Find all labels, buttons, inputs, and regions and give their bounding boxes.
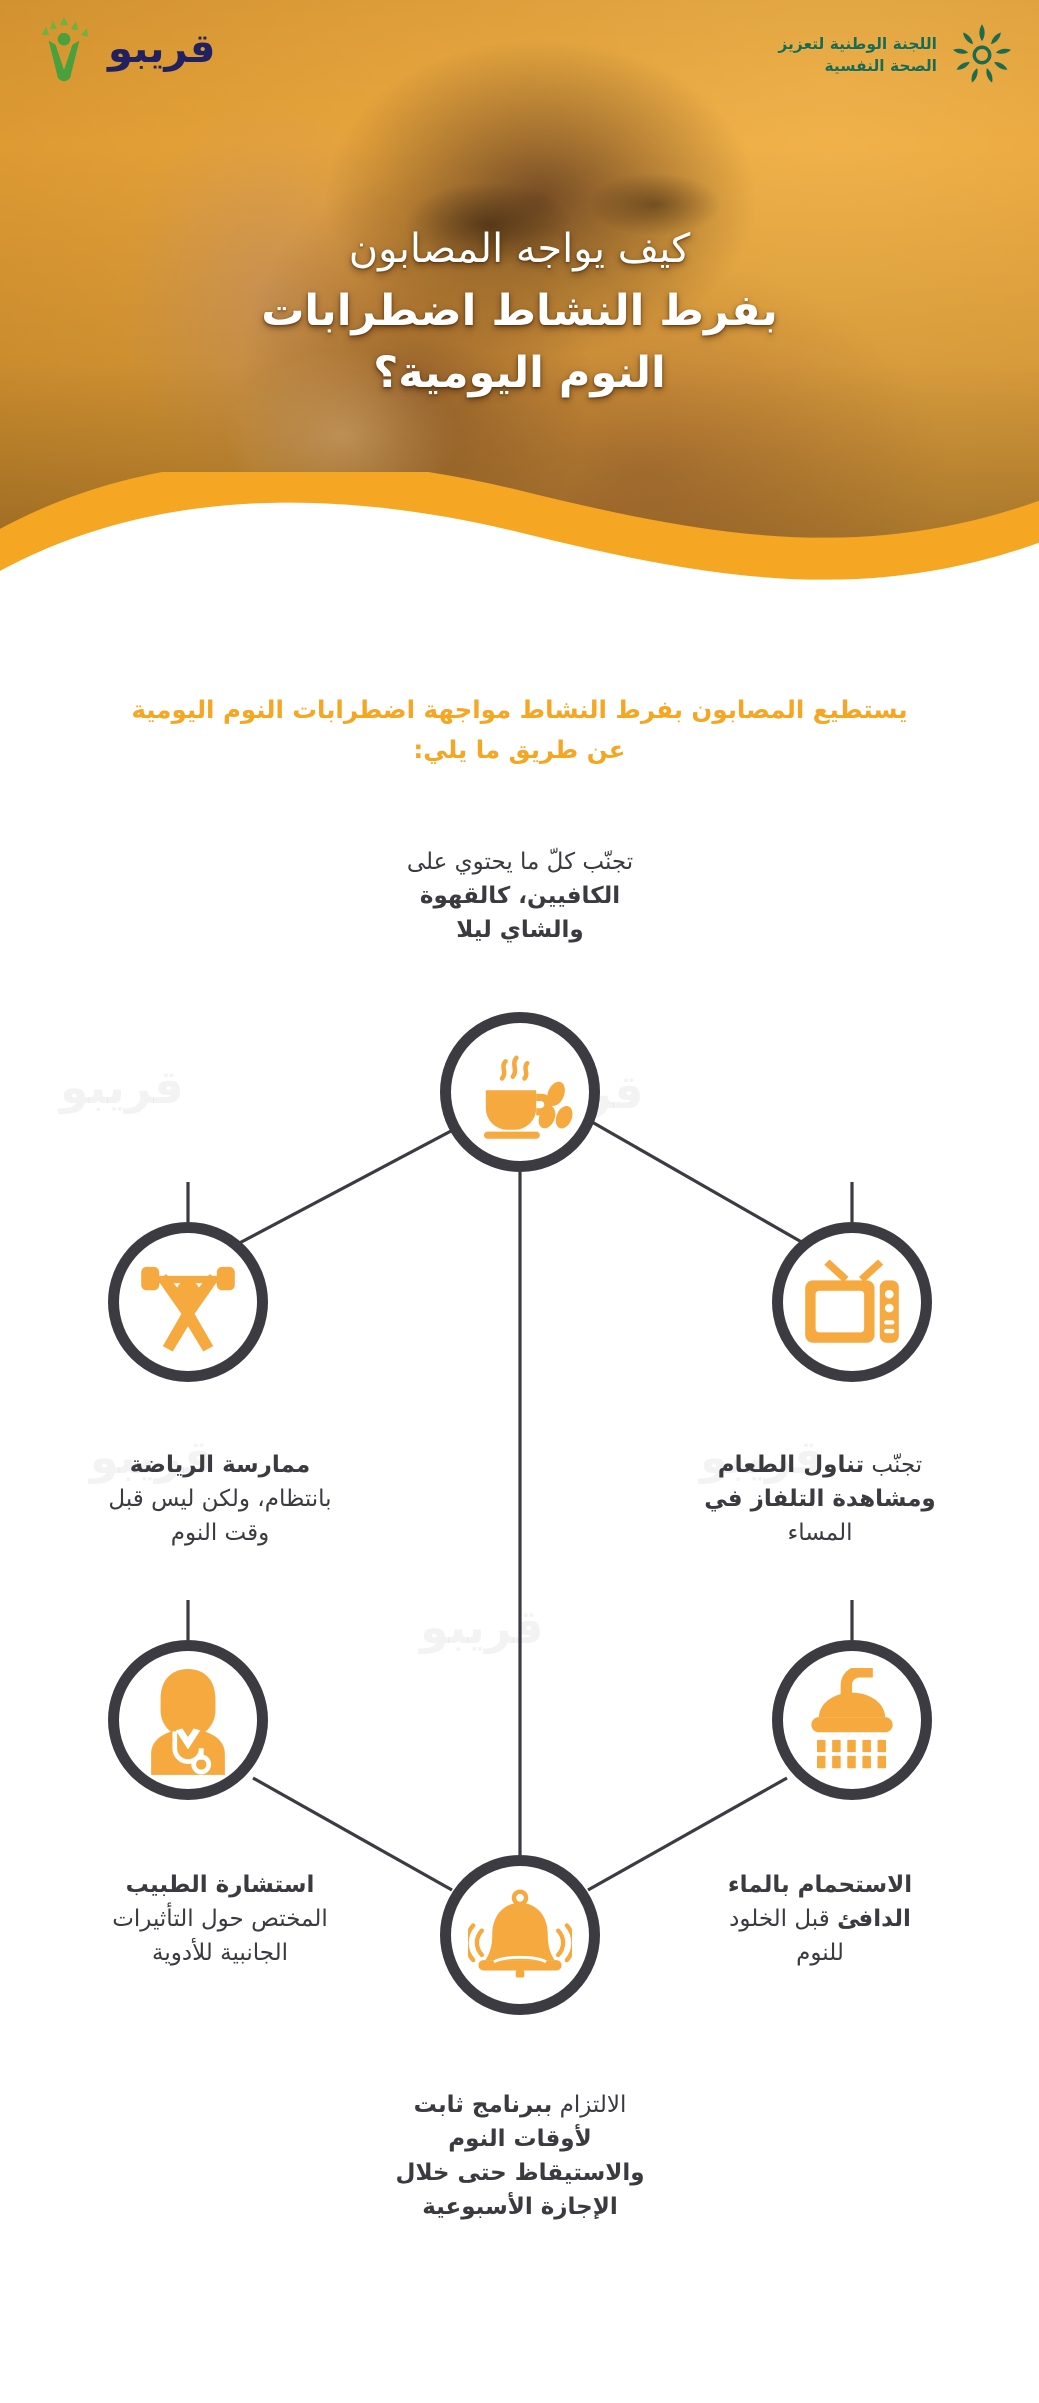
tip-bell-bold-1: ببرنامج ثابت <box>414 2092 553 2118</box>
tip-shower-bold-2: الدافئ <box>837 1906 911 1932</box>
coffee-cup-icon <box>466 1038 574 1146</box>
ringing-bell-icon <box>468 1885 572 1985</box>
doctor-stethoscope-icon <box>136 1665 240 1775</box>
tip-text-doctor: استشارة الطبيب المختص حول التأثيرات الجا… <box>20 1868 420 1970</box>
tip-tv-lead: تجنّب <box>871 1452 922 1478</box>
tip-coffee-lead: تجنّب كلّ ما يحتوي على <box>407 849 633 875</box>
tip-tv-tail: المساء <box>787 1520 852 1546</box>
hero-section: اللجنة الوطنية لتعزيز الصحة النفسية قريب… <box>0 0 1039 660</box>
committee-logo-text: اللجنة الوطنية لتعزيز الصحة النفسية <box>778 33 937 78</box>
tip-coffee-bold-2: والشاي ليلا <box>456 917 583 943</box>
tip-text-television: تجنّب تناول الطعام ومشاهدة التلفاز في ال… <box>620 1448 1020 1550</box>
tip-shower-bold-1: الاستحمام بالماء <box>728 1872 912 1898</box>
tip-sport-tail: وقت النوم <box>171 1520 269 1546</box>
watermark: قريبو <box>420 1600 544 1654</box>
hero-title-line-1: كيف يواجه المصابون <box>0 218 1039 280</box>
television-icon <box>800 1254 904 1350</box>
hero-title-line-2: بفرط النشاط اضطرابات <box>0 280 1039 342</box>
tip-node-exercise[interactable] <box>108 1222 268 1382</box>
tip-bell-bold-4: الإجازة الأسبوعية <box>422 2194 618 2220</box>
national-committee-logo-block: اللجنة الوطنية لتعزيز الصحة النفسية <box>778 20 1017 90</box>
hero-title-line-3: النوم اليومية؟ <box>0 342 1039 404</box>
tip-node-television[interactable] <box>772 1222 932 1382</box>
tip-tv-bold-1: تناول الطعام <box>718 1452 864 1478</box>
tip-node-doctor[interactable] <box>108 1640 268 1800</box>
tip-node-shower[interactable] <box>772 1640 932 1800</box>
hero-title: كيف يواجه المصابون بفرط النشاط اضطرابات … <box>0 218 1039 405</box>
tip-coffee-bold-1: الكافيين، كالقهوة <box>420 883 620 909</box>
watermark: قريبو <box>60 1060 184 1114</box>
tip-bell-bold-3: والاستيقاظ حتى خلال <box>395 2160 644 2186</box>
tip-node-bell[interactable] <box>440 1855 600 2015</box>
intro-paragraph: يستطيع المصابون بفرط النشاط مواجهة اضطرا… <box>0 690 1039 769</box>
tip-tv-bold-2: ومشاهدة التلفاز في <box>704 1486 935 1512</box>
hero-wave-divider <box>0 472 1039 660</box>
tip-sport-bold: ممارسة الرياضة <box>130 1452 310 1478</box>
tip-shower-tail: للنوم <box>796 1940 844 1966</box>
tip-shower-light: قبل الخلود <box>729 1906 830 1932</box>
tip-doctor-bold: استشارة الطبيب <box>126 1872 315 1898</box>
tip-text-bell: الالتزام ببرنامج ثابت لأوقات النوم والاس… <box>240 2088 800 2224</box>
tip-sport-light: بانتظام، ولكن ليس قبل <box>108 1486 331 1512</box>
shower-head-icon <box>800 1668 904 1772</box>
tip-doctor-light: المختص حول التأثيرات <box>112 1906 328 1932</box>
brand-logo-block: قريبو <box>26 14 216 84</box>
brand-logo-text: قريبو <box>108 29 216 69</box>
tip-text-shower: الاستحمام بالماء الدافئ قبل الخلود للنوم <box>620 1868 1020 1970</box>
tip-bell-lead: الالتزام <box>560 2092 627 2118</box>
tip-bell-bold-2: لأوقات النوم <box>448 2126 591 2152</box>
tip-text-exercise: ممارسة الرياضة بانتظام، ولكن ليس قبل وقت… <box>20 1448 420 1550</box>
tip-node-coffee[interactable] <box>440 1012 600 1172</box>
weightlifter-icon <box>134 1252 242 1352</box>
tip-doctor-tail: الجانبية للأدوية <box>152 1940 288 1966</box>
national-committee-mental-health-logo <box>947 20 1017 90</box>
qaribo-person-icon <box>26 14 102 84</box>
tip-text-coffee: تجنّب كلّ ما يحتوي على الكافيين، كالقهوة… <box>220 845 820 947</box>
